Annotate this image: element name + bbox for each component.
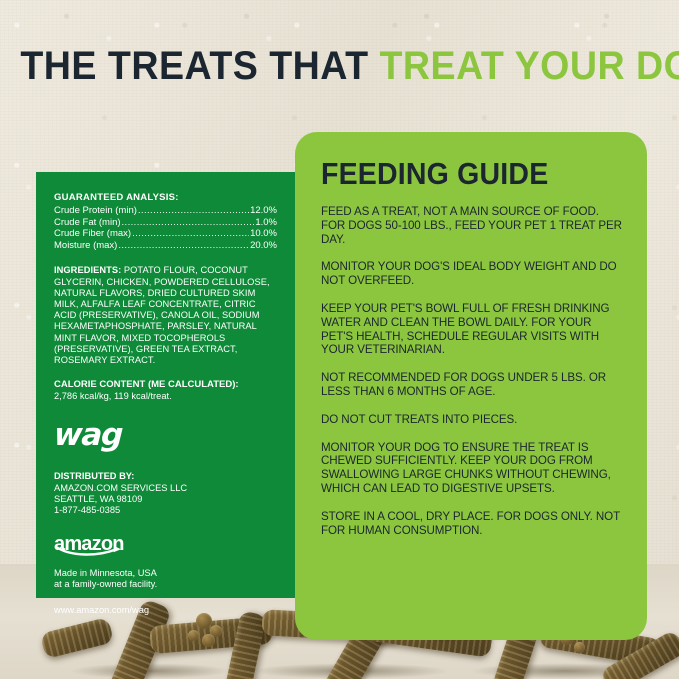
leader-dots: ........................................… <box>138 205 249 217</box>
treat-knob <box>196 613 212 629</box>
feeding-guide-paragraph: KEEP YOUR PET'S BOWL FULL OF FRESH DRINK… <box>321 302 623 357</box>
calorie-content-value: 2,786 kcal/kg, 119 kcal/treat. <box>54 391 277 402</box>
feeding-guide-paragraph: MONITOR YOUR DOG'S IDEAL BODY WEIGHT AND… <box>321 260 623 288</box>
calorie-content-title: CALORIE CONTENT (ME CALCULATED): <box>54 379 277 390</box>
headline-part-1: THE TREATS THAT <box>20 44 379 88</box>
analysis-row: Moisture (max) .........................… <box>54 240 277 252</box>
analysis-row: Crude Fat (min) ........................… <box>54 217 277 229</box>
analysis-name: Crude Fiber (max) <box>54 228 131 240</box>
feeding-guide-title: FEEDING GUIDE <box>321 158 599 189</box>
analysis-row: Crude Fiber (max) ......................… <box>54 228 277 240</box>
treat-knob <box>188 630 199 641</box>
page-headline: THE TREATS THAT TREAT YOUR DOG RIGHT <box>20 46 658 86</box>
analysis-name: Crude Fat (min) <box>54 217 121 229</box>
feeding-guide-paragraph: MONITOR YOUR DOG TO ENSURE THE TREAT IS … <box>321 441 623 496</box>
leader-dots: ........................................… <box>118 240 249 252</box>
analysis-row: Crude Protein (min) ....................… <box>54 205 277 217</box>
analysis-value: 20.0% <box>250 240 277 252</box>
feeding-guide-paragraph: FEED AS A TREAT, NOT A MAIN SOURCE OF FO… <box>321 205 623 246</box>
distributor-city: SEATTLE, WA 98109 <box>54 494 277 505</box>
amazon-smile-icon <box>57 546 125 557</box>
headline-part-2: TREAT YOUR DOG RIGHT <box>379 44 679 88</box>
guaranteed-analysis-title: GUARANTEED ANALYSIS: <box>54 192 277 203</box>
leader-dots: ........................................… <box>122 217 255 229</box>
treat-knob <box>574 642 585 653</box>
analysis-name: Moisture (max) <box>54 240 117 252</box>
ingredients-label: INGREDIENTS: <box>54 265 121 275</box>
analysis-value: 12.0% <box>250 205 277 217</box>
feeding-guide-paragraph: NOT RECOMMENDED FOR DOGS UNDER 5 LBS. OR… <box>321 371 623 399</box>
made-in-line-1: Made in Minnesota, USA <box>54 568 277 579</box>
distributor-info: DISTRIBUTED BY: AMAZON.COM SERVICES LLC … <box>54 471 277 517</box>
ingredients-section: INGREDIENTS: POTATO FLOUR, COCONUT GLYCE… <box>54 265 277 366</box>
feeding-guide-paragraph: STORE IN A COOL, DRY PLACE. FOR DOGS ONL… <box>321 510 623 538</box>
distributor-phone: 1-877-485-0385 <box>54 505 277 516</box>
amazon-logo: amazon <box>54 534 124 554</box>
distributed-by-label: DISTRIBUTED BY: <box>54 471 277 482</box>
wag-brand-logo: wag <box>53 420 123 451</box>
ingredients-text: POTATO FLOUR, COCONUT GLYCERIN, CHICKEN,… <box>54 265 270 365</box>
treat-shadow <box>70 663 230 679</box>
distributor-company: AMAZON.COM SERVICES LLC <box>54 483 277 494</box>
analysis-value: 10.0% <box>250 228 277 240</box>
website-url: www.amazon.com/wag <box>54 605 277 615</box>
leader-dots: ........................................… <box>132 228 249 240</box>
nutrition-panel: GUARANTEED ANALYSIS: Crude Protein (min)… <box>36 172 295 598</box>
made-in-info: Made in Minnesota, USA at a family-owned… <box>54 568 277 591</box>
analysis-value: 1.0% <box>255 217 277 229</box>
feeding-guide-paragraph: DO NOT CUT TREATS INTO PIECES. <box>321 413 623 427</box>
guaranteed-analysis-section: GUARANTEED ANALYSIS: Crude Protein (min)… <box>54 192 277 251</box>
analysis-name: Crude Protein (min) <box>54 205 137 217</box>
treat-knob <box>202 634 215 647</box>
made-in-line-2: at a family-owned facility. <box>54 579 277 590</box>
feeding-guide-panel: FEEDING GUIDE FEED AS A TREAT, NOT A MAI… <box>295 132 647 640</box>
